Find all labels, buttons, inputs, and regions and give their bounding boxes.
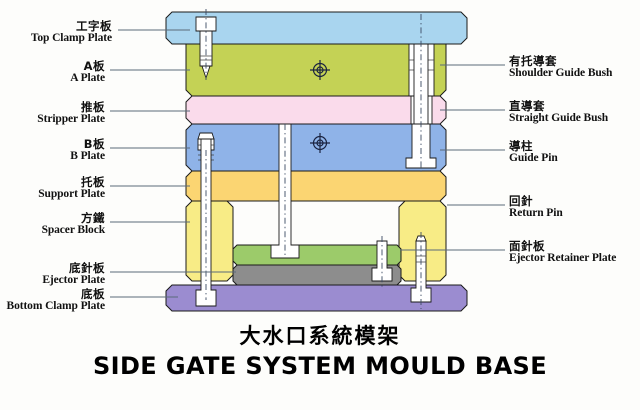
label-return-pin-cn: 回針 bbox=[509, 195, 563, 207]
label-straight-guide-bush-en: Straight Guide Bush bbox=[509, 112, 608, 124]
label-top-clamp-plate-en: Top Clamp Plate bbox=[0, 32, 112, 44]
label-straight-guide-bush-cn: 直導套 bbox=[509, 100, 608, 112]
label-ejector-plate-en: Ejector Plate bbox=[0, 274, 105, 286]
label-top-clamp-plate: 工字板 Top Clamp Plate bbox=[0, 20, 112, 45]
label-shoulder-guide-bush-en: Shoulder Guide Bush bbox=[509, 67, 612, 79]
label-top-clamp-plate-cn: 工字板 bbox=[0, 20, 112, 32]
label-straight-guide-bush: 直導套 Straight Guide Bush bbox=[509, 100, 608, 125]
label-bottom-clamp-plate-en: Bottom Clamp Plate bbox=[0, 300, 105, 312]
label-support-plate-cn: 托板 bbox=[0, 176, 105, 188]
label-guide-pin-cn: 導柱 bbox=[509, 140, 558, 152]
title-en: SIDE GATE SYSTEM MOULD BASE bbox=[0, 352, 640, 380]
label-ejector-retainer-plate-cn: 面針板 bbox=[509, 240, 616, 252]
label-a-plate-en: A Plate bbox=[0, 72, 105, 84]
label-b-plate: B板 B Plate bbox=[0, 138, 105, 163]
label-ejector-retainer-plate: 面針板 Ejector Retainer Plate bbox=[509, 240, 616, 265]
label-return-pin: 回針 Return Pin bbox=[509, 195, 563, 220]
label-ejector-plate: 底針板 Ejector Plate bbox=[0, 262, 105, 287]
ejector-retainer-plate bbox=[233, 245, 401, 265]
label-a-plate: A板 A Plate bbox=[0, 60, 105, 85]
label-stripper-plate-en: Stripper Plate bbox=[0, 113, 105, 125]
label-spacer-block-cn: 方鐵 bbox=[0, 212, 105, 224]
label-ejector-retainer-plate-en: Ejector Retainer Plate bbox=[509, 252, 616, 264]
label-ejector-plate-cn: 底針板 bbox=[0, 262, 105, 274]
title-cn: 大水口系統模架 bbox=[0, 320, 640, 350]
label-stripper-plate-cn: 推板 bbox=[0, 101, 105, 113]
support-plate bbox=[186, 171, 446, 201]
label-support-plate-en: Support Plate bbox=[0, 188, 105, 200]
label-stripper-plate: 推板 Stripper Plate bbox=[0, 101, 105, 126]
label-spacer-block-en: Spacer Block bbox=[0, 224, 105, 236]
label-guide-pin: 導柱 Guide Pin bbox=[509, 140, 558, 165]
label-b-plate-en: B Plate bbox=[0, 150, 105, 162]
label-return-pin-en: Return Pin bbox=[509, 207, 563, 219]
label-bottom-clamp-plate: 底板 Bottom Clamp Plate bbox=[0, 288, 105, 313]
label-shoulder-guide-bush-cn: 有托導套 bbox=[509, 55, 612, 67]
cap-screw-b-tip bbox=[198, 133, 214, 139]
stripper-plate bbox=[186, 96, 446, 124]
label-spacer-block: 方鐵 Spacer Block bbox=[0, 212, 105, 237]
page-title: 大水口系統模架 SIDE GATE SYSTEM MOULD BASE bbox=[0, 320, 640, 380]
label-guide-pin-en: Guide Pin bbox=[509, 152, 558, 164]
label-a-plate-cn: A板 bbox=[0, 60, 105, 72]
label-support-plate: 托板 Support Plate bbox=[0, 176, 105, 201]
label-bottom-clamp-plate-cn: 底板 bbox=[0, 288, 105, 300]
label-shoulder-guide-bush: 有托導套 Shoulder Guide Bush bbox=[509, 55, 612, 80]
label-b-plate-cn: B板 bbox=[0, 138, 105, 150]
diagram-canvas: .o{stroke:#1a1a1a;stroke-width:1;stroke-… bbox=[0, 0, 640, 410]
